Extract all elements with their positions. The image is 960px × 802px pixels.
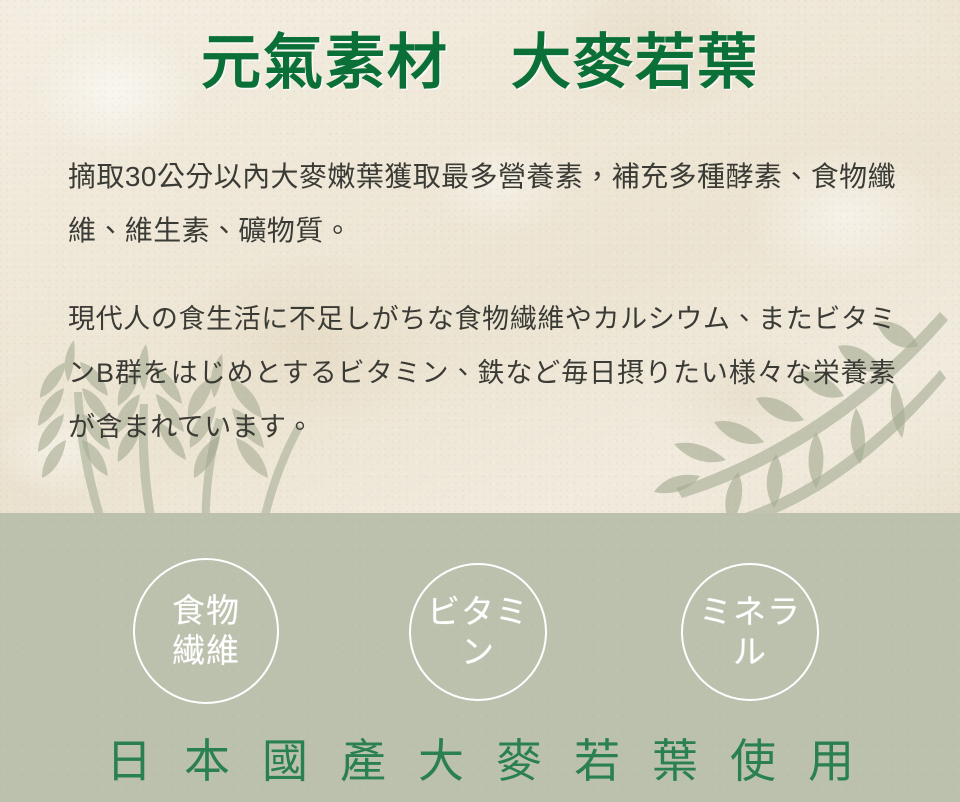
nutrient-circle-group: 食物 繊維 ビタミン ミネラル [0,513,960,713]
page-title: 元氣素材 大麥若葉 [0,32,960,94]
paper-background-section: 元氣素材 大麥若葉 摘取30公分以內大麥嫩葉獲取最多營養素，補充多種酵素、食物纖… [0,0,960,513]
nutrient-circle-vitamin: ビタミン [409,563,547,701]
nutrient-circle-mineral: ミネラル [681,563,819,701]
nutrient-circle-label: ミネラル [683,592,817,672]
product-feature-poster: 元氣素材 大麥若葉 摘取30公分以內大麥嫩葉獲取最多營養素，補充多種酵素、食物纖… [0,0,960,802]
nutrient-circle-label: 食物 繊維 [172,591,240,671]
description-paragraph-chinese: 摘取30公分以內大麥嫩葉獲取最多營養素，補充多種酵素、食物纖維、維生素、礦物質。 [68,150,896,258]
nutrient-circle-label: ビタミン [411,592,545,672]
origin-caption: 日本國產大麥若葉使用 [0,735,960,787]
nutrient-circle-dietary-fiber: 食物 繊維 [133,558,279,704]
nutrient-highlight-band: 食物 繊維 ビタミン ミネラル 日本國產大麥若葉使用 [0,513,960,802]
description-paragraph-japanese: 現代人の食生活に不足しがちな食物繊維やカルシウム、またビタミンB群をはじめとする… [68,292,896,454]
